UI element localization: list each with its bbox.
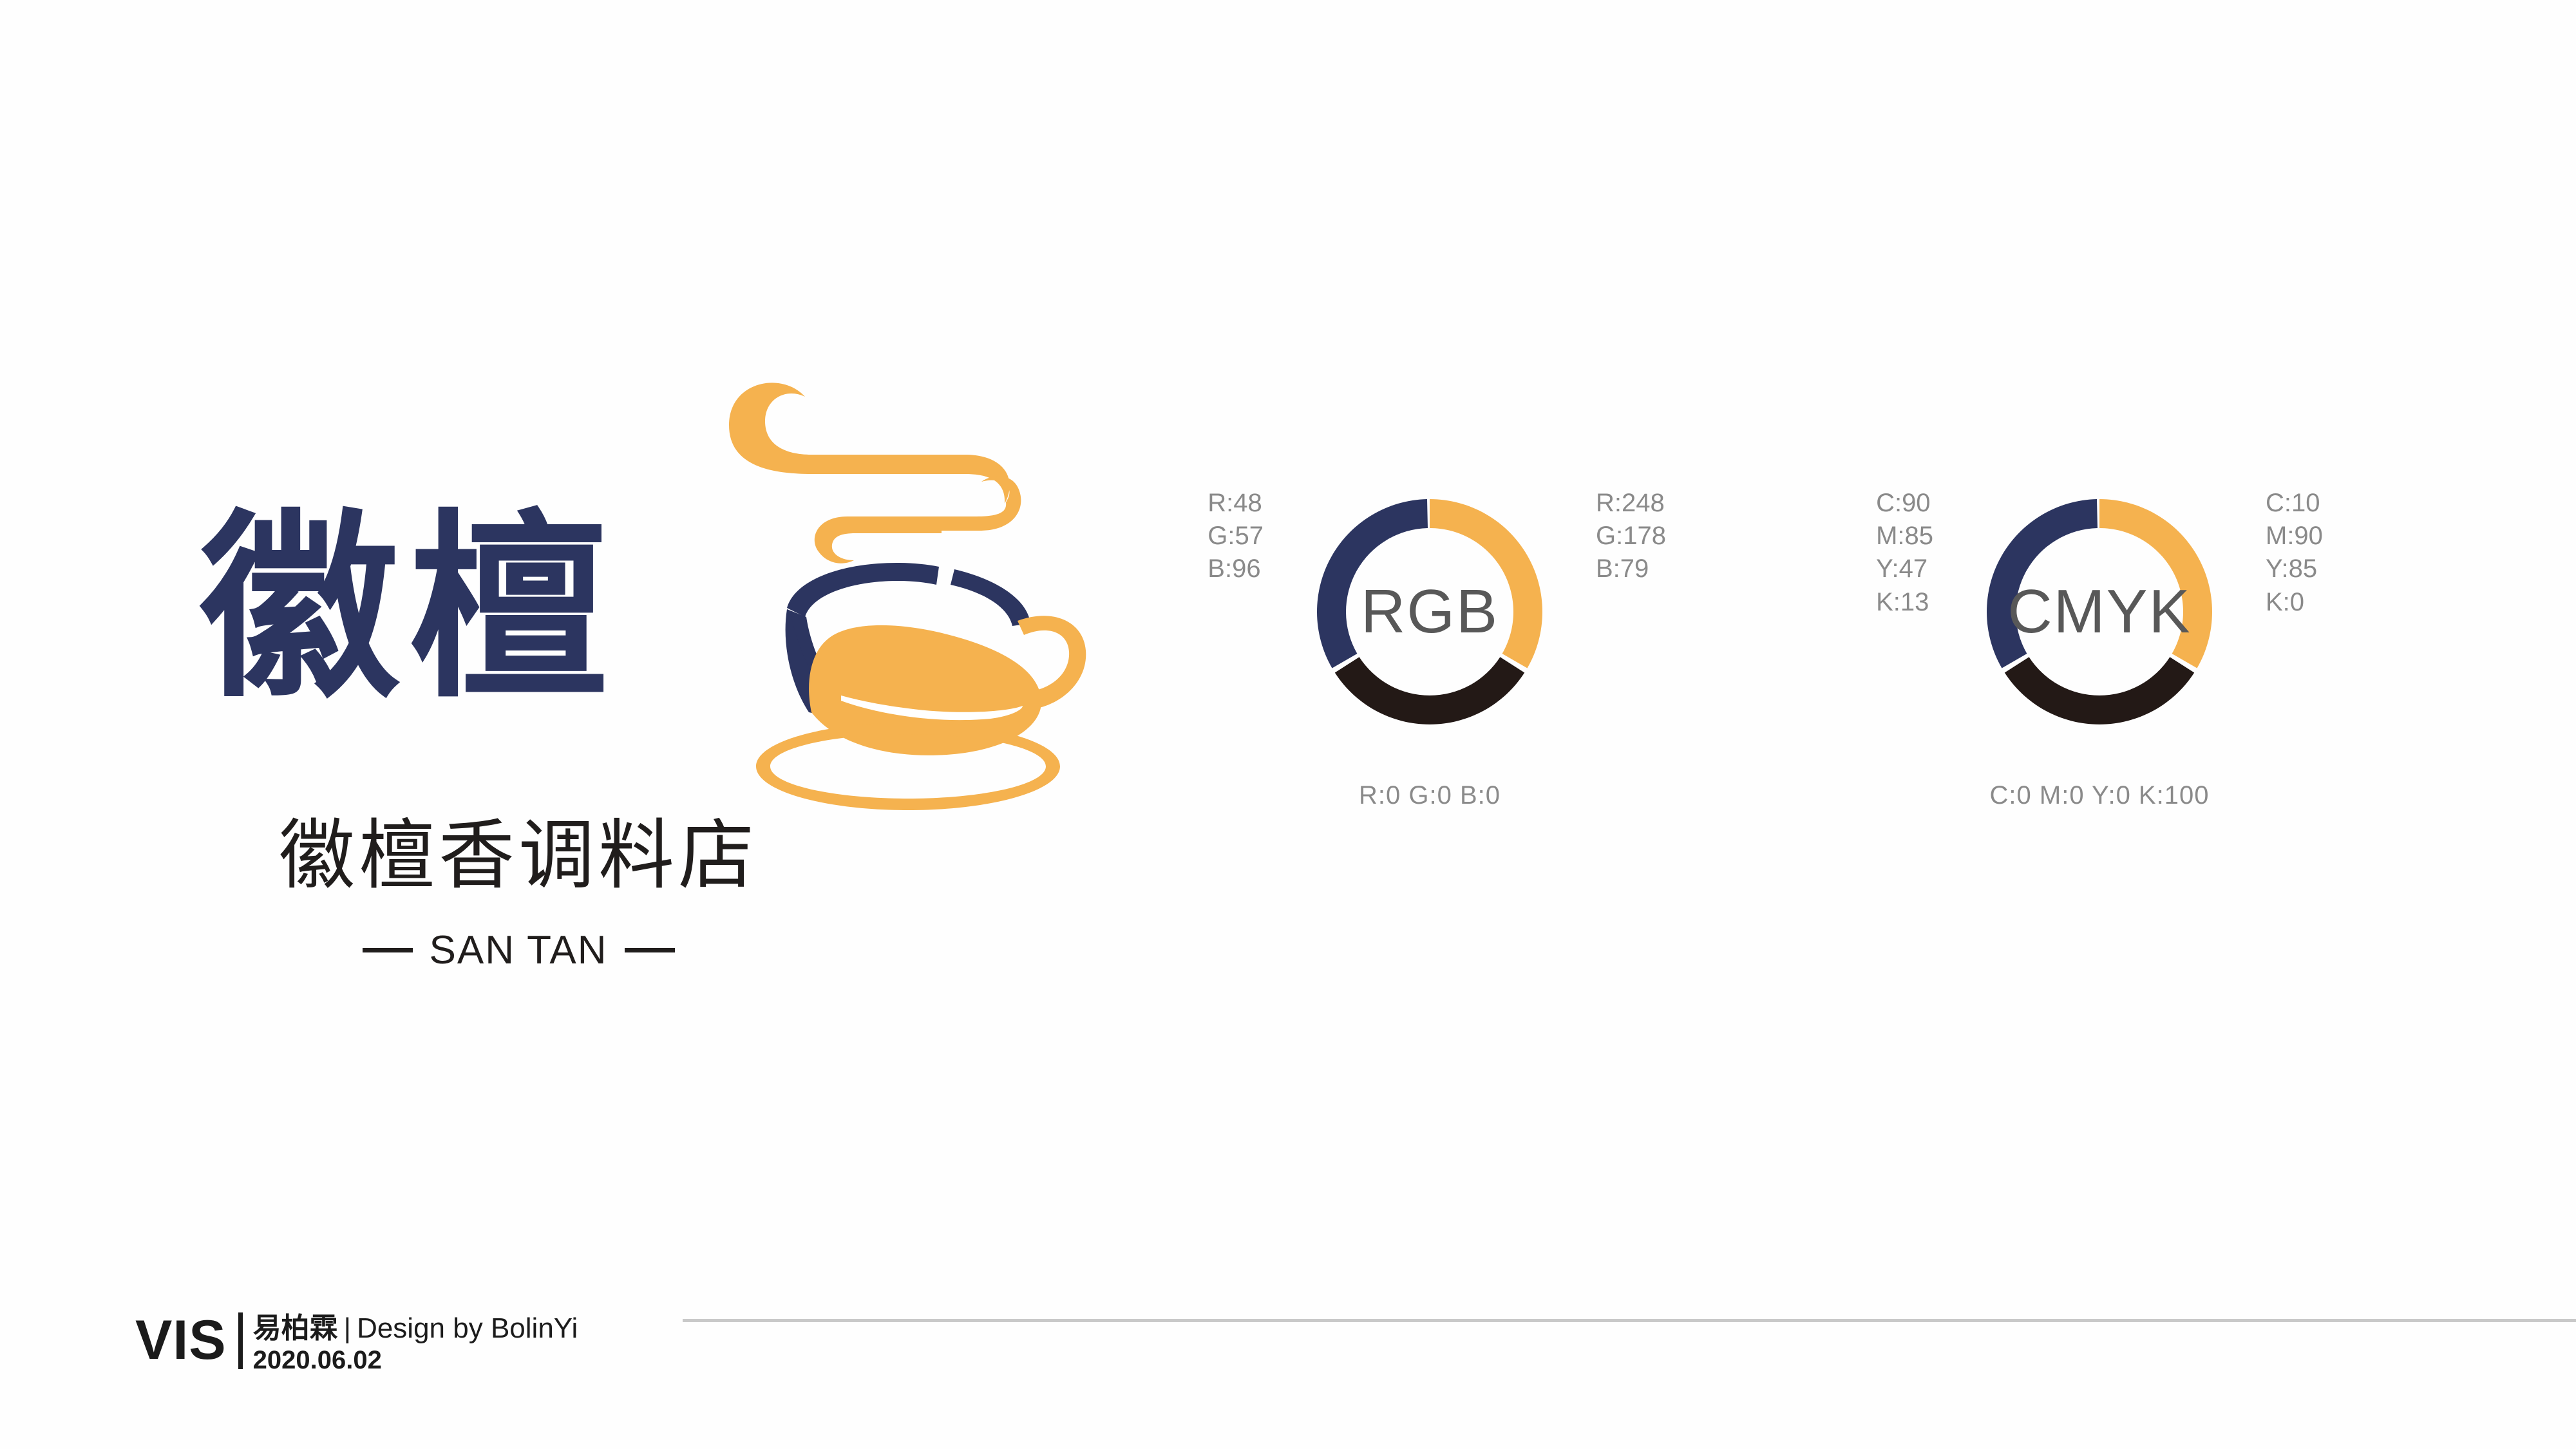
poster-canvas: 徽檀 [0, 0, 2576, 1449]
cmyk-slice-navy [1987, 499, 2098, 668]
rgb-donut: RGB [1294, 477, 1565, 747]
footer-pipe: | [344, 1314, 351, 1343]
footer: VIS 易柏霖 | Design by BolinYi 2020.06.02 [0, 1301, 2576, 1410]
logo-wordmark: 徽檀 [200, 509, 617, 708]
rgb-navy-label: R:48 G:57 B:96 [1207, 487, 1264, 586]
tagline-dash-left [363, 948, 413, 952]
cmyk-black-label: C:0 M:0 Y:0 K:100 [1790, 779, 2409, 812]
tagline-dash-right [625, 948, 675, 952]
footer-design-by: Design by BolinYi [357, 1314, 578, 1343]
rgb-donut-chart: R:48 G:57 B:96 R:248 G:178 B:79 RGB R:0 … [1121, 451, 1739, 992]
logo-tagline: SAN TAN [161, 927, 876, 973]
footer-author-line: 易柏霖 | Design by BolinYi [253, 1314, 578, 1343]
cmyk-orange-label: C:10 M:90 Y:85 K:0 [2266, 487, 2323, 619]
footer-credit: VIS 易柏霖 | Design by BolinYi 2020.06.02 [135, 1312, 578, 1374]
cmyk-slice-black [2005, 657, 2194, 724]
footer-date: 2020.06.02 [253, 1346, 578, 1374]
cmyk-donut-chart: C:90 M:85 Y:47 K:13 C:10 M:90 Y:85 K:0 C… [1790, 451, 2409, 992]
rgb-slice-orange [1430, 499, 1542, 668]
footer-divider [238, 1312, 243, 1369]
cmyk-donut: CMYK [1964, 477, 2235, 747]
logo-mark: 徽檀 [161, 348, 1114, 857]
coffee-cup-with-leaf-and-steam-icon [715, 348, 1101, 811]
rgb-black-label: R:0 G:0 B:0 [1121, 779, 1739, 812]
rgb-slice-navy [1317, 499, 1428, 668]
tagline-text: SAN TAN [430, 927, 608, 973]
footer-text-block: 易柏霖 | Design by BolinYi 2020.06.02 [253, 1312, 578, 1374]
rgb-orange-label: R:248 G:178 B:79 [1596, 487, 1666, 586]
color-spec-charts: R:48 G:57 B:96 R:248 G:178 B:79 RGB R:0 … [1121, 451, 2447, 992]
cmyk-slice-orange [2099, 499, 2212, 668]
logo-subtitle: 徽檀香调料店 [161, 818, 876, 894]
footer-author-cn: 易柏霖 [253, 1314, 338, 1343]
brand-logo-block: 徽檀 [161, 348, 1114, 1056]
rgb-slice-black [1335, 657, 1524, 724]
vis-mark: VIS [135, 1312, 227, 1368]
footer-rule [683, 1319, 2576, 1322]
cmyk-navy-label: C:90 M:85 Y:47 K:13 [1876, 487, 1933, 619]
